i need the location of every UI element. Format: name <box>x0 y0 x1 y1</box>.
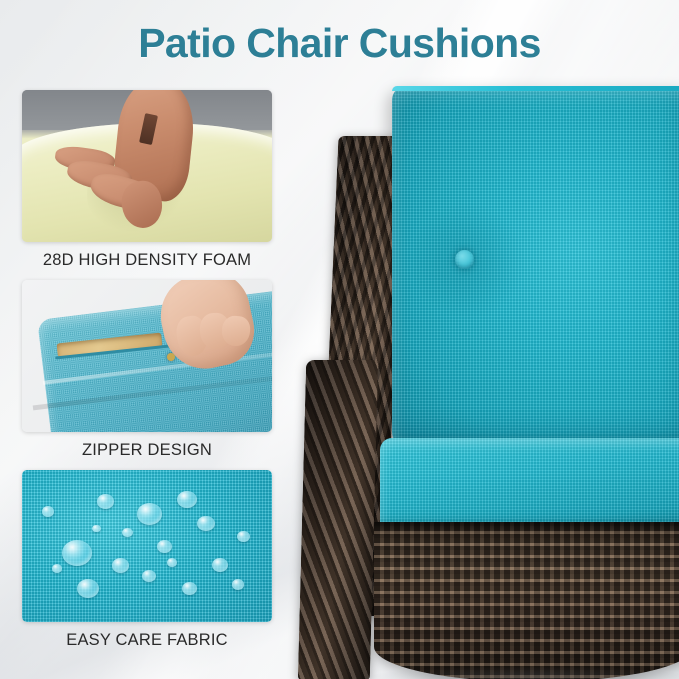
foam-thumbnail-image <box>22 90 272 242</box>
wicker-arm-lower <box>298 360 378 679</box>
feature-item-zipper-design: ZIPPER DESIGN <box>22 280 272 460</box>
tufted-button <box>455 250 474 269</box>
water-droplet <box>62 540 92 566</box>
water-droplet <box>92 525 101 533</box>
product-feature-banner: Patio Chair Cushions 28D HIGH DENSITY FO… <box>0 0 679 679</box>
water-droplet <box>177 491 197 508</box>
base-top-shadow <box>374 522 679 536</box>
feature-caption: ZIPPER DESIGN <box>22 432 272 460</box>
water-droplet <box>42 506 54 516</box>
water-droplet <box>197 516 215 531</box>
water-droplet <box>167 558 177 567</box>
water-droplet <box>142 570 156 582</box>
water-droplet <box>237 531 250 542</box>
water-droplet <box>232 579 244 589</box>
water-droplet <box>182 582 197 595</box>
feature-caption: EASY CARE FABRIC <box>22 622 272 650</box>
water-droplet <box>157 540 172 553</box>
water-droplet <box>137 503 162 525</box>
water-droplet <box>77 579 99 598</box>
water-droplet <box>97 494 114 509</box>
seat-cushion <box>380 438 679 534</box>
page-title: Patio Chair Cushions <box>0 20 679 67</box>
fabric-thumbnail-image <box>22 470 272 622</box>
product-photo <box>300 70 679 679</box>
water-droplet <box>212 558 228 572</box>
zipper-thumbnail-image <box>22 280 272 432</box>
cushion-piping <box>392 86 679 91</box>
feature-item-easy-care-fabric: EASY CARE FABRIC <box>22 470 272 650</box>
water-droplet <box>112 558 129 573</box>
water-droplet <box>52 564 62 573</box>
wicker-base <box>374 522 679 679</box>
feature-list: 28D HIGH DENSITY FOAM ZIPPER DESIGN EASY… <box>22 90 272 660</box>
feature-item-high-density-foam: 28D HIGH DENSITY FOAM <box>22 90 272 270</box>
water-droplet <box>122 528 133 537</box>
feature-caption: 28D HIGH DENSITY FOAM <box>22 242 272 270</box>
